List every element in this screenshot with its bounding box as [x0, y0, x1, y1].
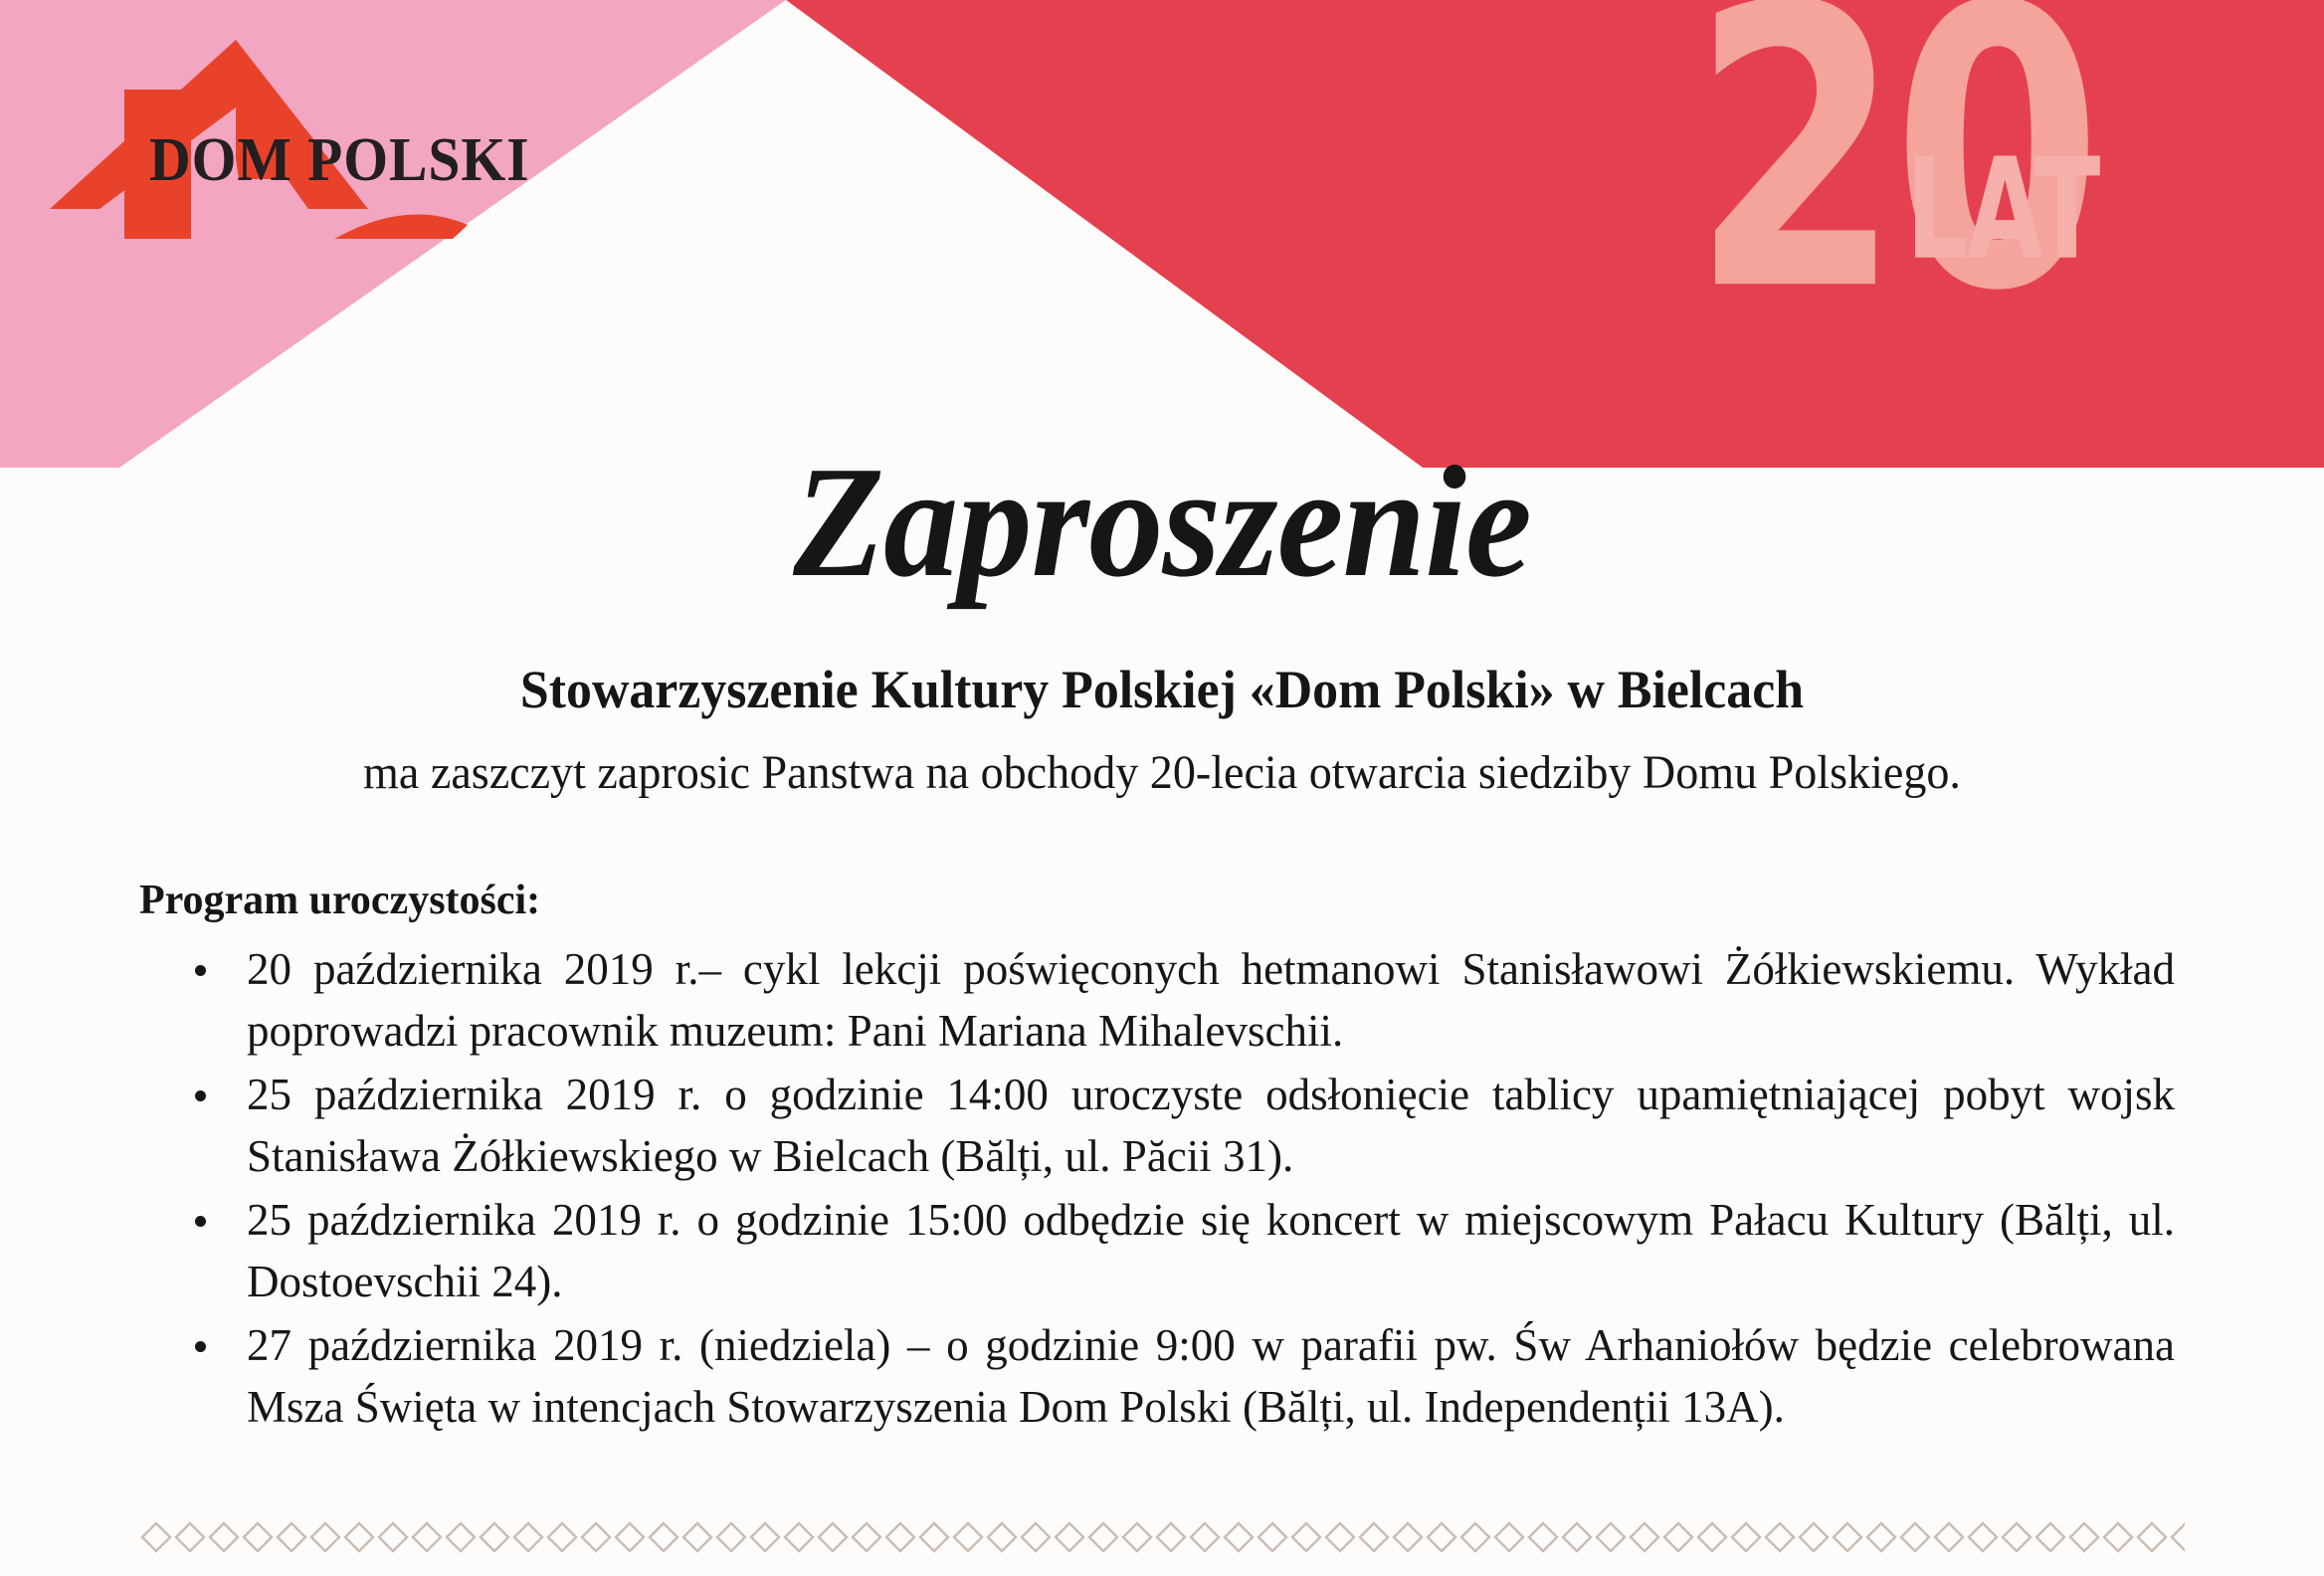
anniversary-watermark: 20 LAT [1691, 0, 2109, 338]
page-title: Zaproszenie [70, 438, 2254, 605]
logo-wordmark: DOM POLSKI [149, 129, 530, 191]
invitation-body: Zaproszenie Stowarzyszenie Kultury Polsk… [0, 438, 2324, 1440]
logo-dom-polski: DOM POLSKI [40, 30, 557, 229]
list-item: 25 października 2019 r. o godzinie 15:00… [149, 1189, 2175, 1312]
invitation-card: DOM POLSKI 20 LAT Zaproszenie Stowarzysz… [0, 0, 2324, 1576]
diamond-chain-divider [139, 1520, 2185, 1554]
anniversary-word: LAT [1906, 139, 2098, 279]
list-item: 25 października 2019 r. o godzinie 14:00… [149, 1064, 2175, 1187]
header-banner: DOM POLSKI 20 LAT [0, 0, 2324, 468]
list-item: 27 października 2019 r. (niedziela) – o … [149, 1314, 2175, 1438]
organization-line: Stowarzyszenie Kultury Polskiej «Dom Pol… [47, 661, 2278, 719]
diamond-chain-svg [139, 1520, 2185, 1554]
invitation-lede: ma zaszczyt zaprosic Panstwa na obchody … [47, 745, 2278, 800]
program-list: 20 października 2019 r.– cykl lekcji poś… [0, 938, 2324, 1439]
program-heading: Program uroczystości: [139, 877, 2324, 924]
list-item: 20 października 2019 r.– cykl lekcji poś… [149, 938, 2175, 1062]
